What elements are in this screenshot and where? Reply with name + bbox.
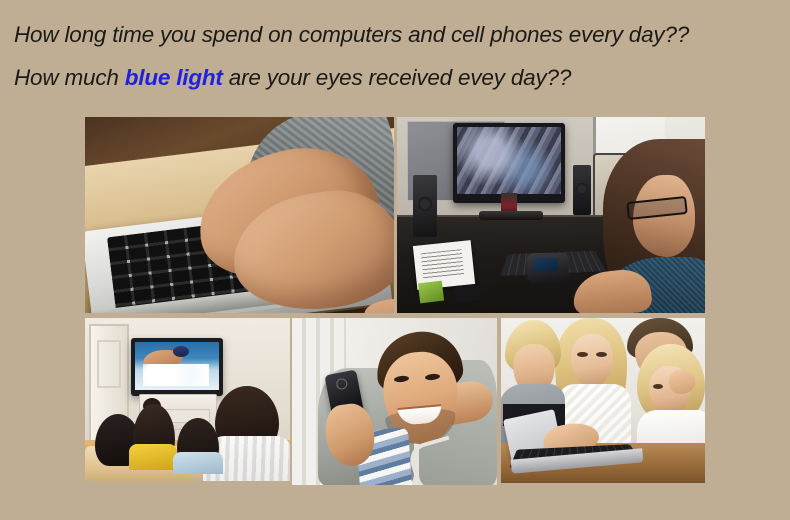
poster-root: How long time you spend on computers and…: [0, 0, 790, 520]
photo2-green-box: [418, 281, 444, 304]
photo3-tv-swim-cap: [173, 346, 189, 357]
photo-man-with-smartphone: [292, 318, 497, 485]
photo2-speaker-left: [413, 175, 437, 237]
photo-family-at-laptop: [501, 318, 705, 483]
photo2-monitor-foot: [479, 211, 543, 220]
photo3-tv-water-splash: [143, 364, 209, 386]
headline-block: How long time you spend on computers and…: [14, 18, 776, 95]
photo5-girl-eye-left: [653, 384, 663, 389]
photo-kids-watching-tv: [85, 318, 290, 481]
photo-gaming-desk-setup: [397, 117, 705, 313]
photo2-speaker-right: [573, 165, 591, 215]
photo2-monitor-screen: [457, 127, 561, 194]
photo2-gamepad: [527, 253, 569, 283]
photo-collage: [85, 117, 705, 484]
photo3-child-3-shirt: [173, 452, 223, 474]
headline-line-2-prefix: How much: [14, 65, 125, 90]
headline-line-2-suffix: are your eyes received evey day??: [223, 65, 571, 90]
photo-hands-typing-laptop: [85, 117, 394, 313]
photo5-mother-eye-left: [577, 352, 588, 357]
photo5-mother-eye-right: [596, 352, 607, 357]
headline-accent-blue-light: blue light: [125, 65, 223, 90]
photo2-monitor-neck: [501, 193, 517, 213]
headline-line-2: How much blue light are your eyes receiv…: [14, 61, 776, 95]
photo5-girl-hand: [669, 370, 695, 394]
photo3-child-2-shirt: [129, 444, 177, 470]
photo2-smartphone: [454, 284, 481, 302]
headline-line-1: How long time you spend on computers and…: [14, 18, 776, 52]
